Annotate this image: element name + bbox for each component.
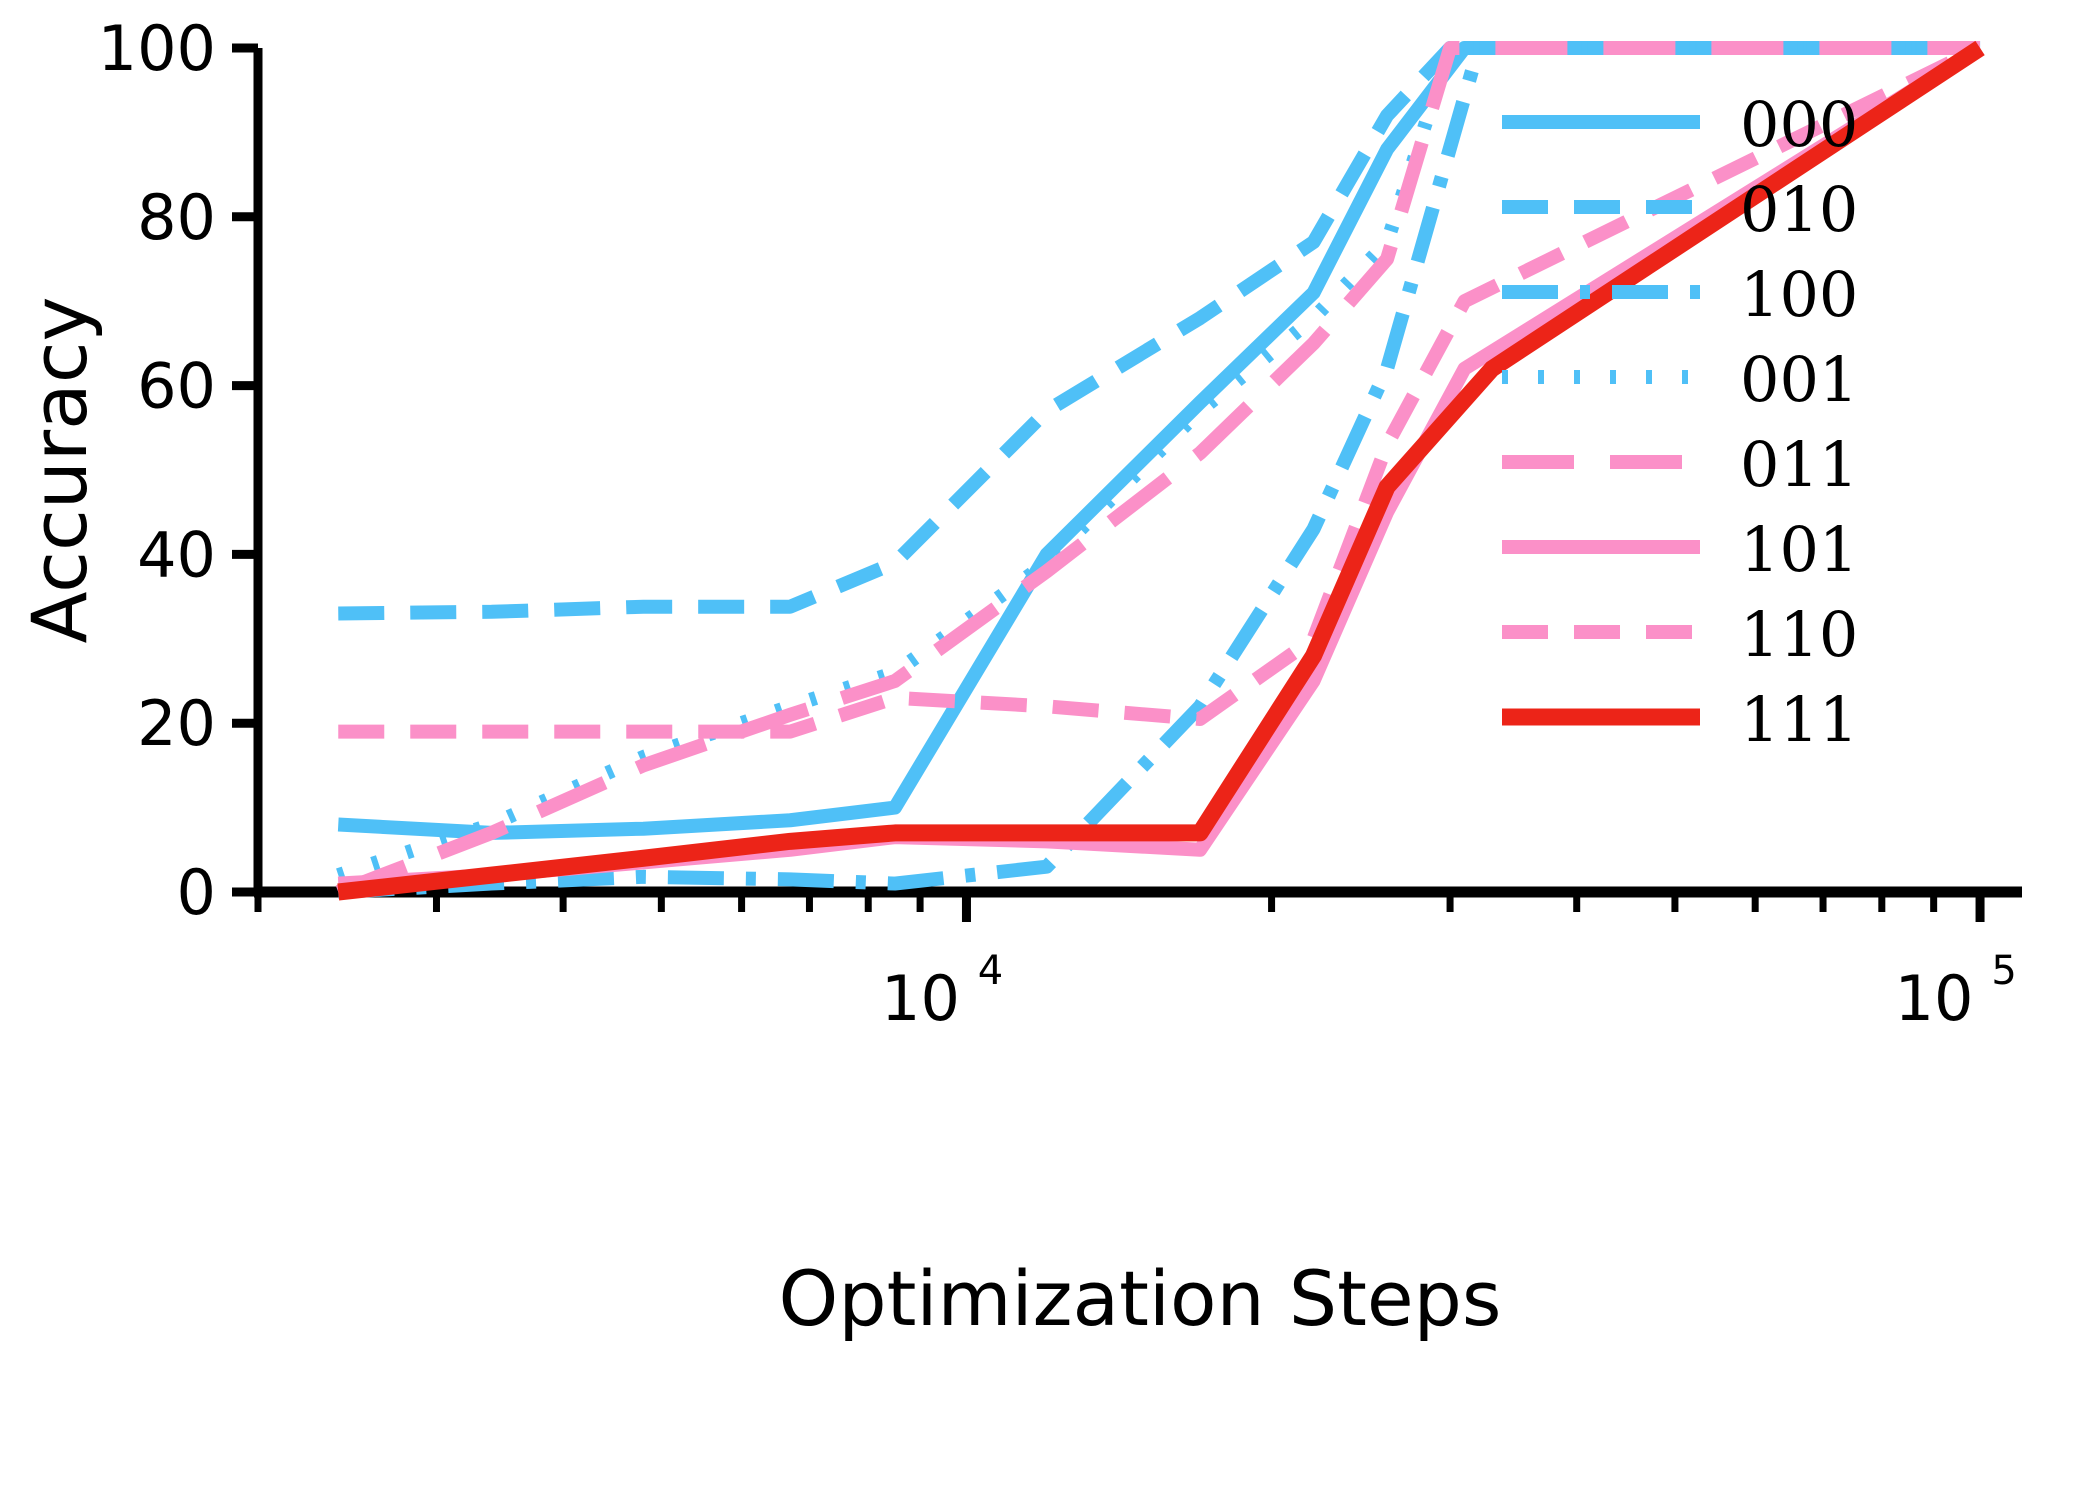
legend-label-100[interactable]: 100 xyxy=(1740,258,1858,331)
y-tick-label: 80 xyxy=(137,181,216,254)
y-tick-label: 20 xyxy=(137,687,216,760)
y-axis-title: Accuracy xyxy=(15,297,104,644)
x-axis-title: Optimization Steps xyxy=(779,1254,1502,1343)
legend-label-010[interactable]: 010 xyxy=(1740,173,1858,246)
x-tick-label-exponent: 5 xyxy=(1991,948,2016,994)
y-tick-label: 0 xyxy=(177,856,216,929)
x-tick-label-mantissa: 10 xyxy=(881,962,960,1035)
chart-figure: 020406080100 104105 00001010000101110111… xyxy=(0,0,2100,1500)
line-chart: 020406080100 104105 00001010000101110111… xyxy=(0,0,2100,1500)
y-tick-label: 60 xyxy=(137,350,216,423)
legend-label-001[interactable]: 001 xyxy=(1740,343,1858,416)
legend-label-111[interactable]: 111 xyxy=(1740,683,1858,756)
legend-label-101[interactable]: 101 xyxy=(1740,513,1858,586)
y-tick-label: 40 xyxy=(137,518,216,591)
legend-label-110[interactable]: 110 xyxy=(1740,598,1858,671)
legend-label-000[interactable]: 000 xyxy=(1740,88,1858,161)
x-tick-label-exponent: 4 xyxy=(978,948,1003,994)
y-tick-label: 100 xyxy=(98,12,216,85)
x-tick-label-mantissa: 10 xyxy=(1895,962,1974,1035)
legend-label-011[interactable]: 011 xyxy=(1740,428,1858,501)
